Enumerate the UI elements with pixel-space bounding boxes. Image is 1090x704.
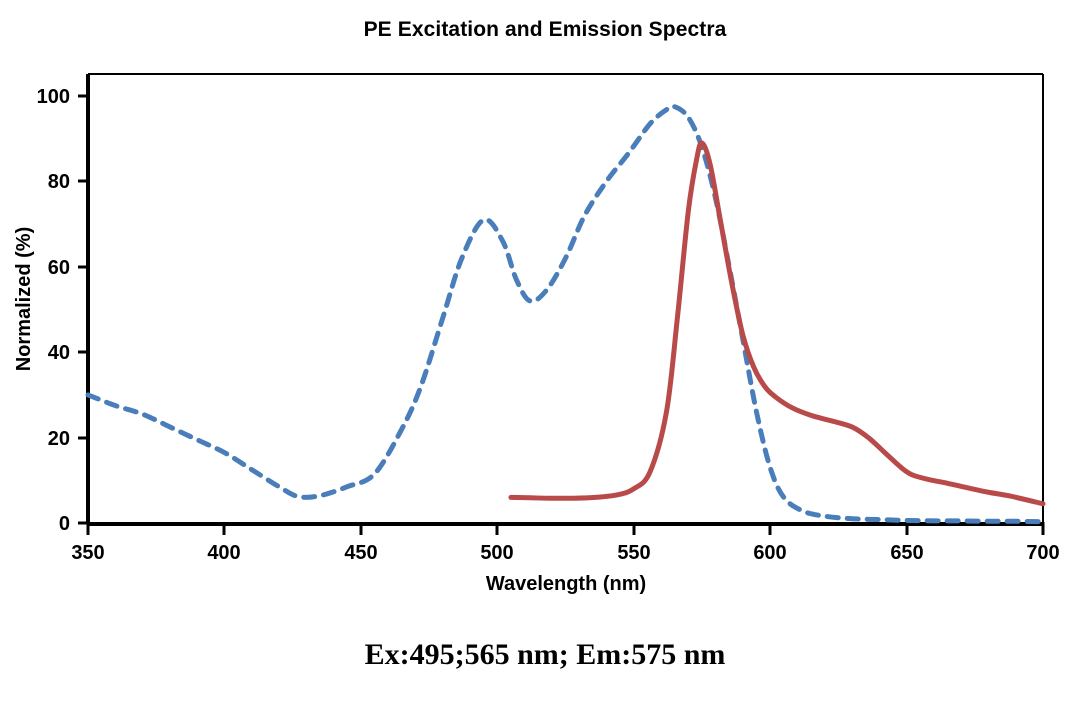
chart-caption: Ex:495;565 nm; Em:575 nm [0,638,1090,672]
y-tick-label-0: 0 [59,513,70,535]
x-tick-label-500: 500 [480,542,513,564]
plot-area-background [88,74,1043,524]
x-tick-label-450: 450 [344,542,377,564]
x-tick-label-550: 550 [617,542,650,564]
y-axis-title: Normalized (%) [13,227,35,371]
y-tick-label-40: 40 [48,342,70,364]
x-tick-label-350: 350 [71,542,104,564]
x-tick-label-600: 600 [753,542,786,564]
x-axis-tick-labels: 350 400 450 500 550 600 650 700 [71,542,1059,564]
y-tick-label-20: 20 [48,428,70,450]
x-tick-label-400: 400 [207,542,240,564]
spectra-plot: 100 80 60 40 20 0 350 400 450 500 550 60… [0,0,1090,704]
x-tick-label-650: 650 [890,542,923,564]
y-axis-tick-labels: 100 80 60 40 20 0 [37,86,70,535]
y-tick-label-80: 80 [48,171,70,193]
x-tick-label-700: 700 [1026,542,1059,564]
y-tick-label-60: 60 [48,257,70,279]
chart-page: PE Excitation and Emission Spectra 100 8… [0,0,1090,704]
y-tick-label-100: 100 [37,86,70,108]
x-axis-title: Wavelength (nm) [486,573,646,595]
